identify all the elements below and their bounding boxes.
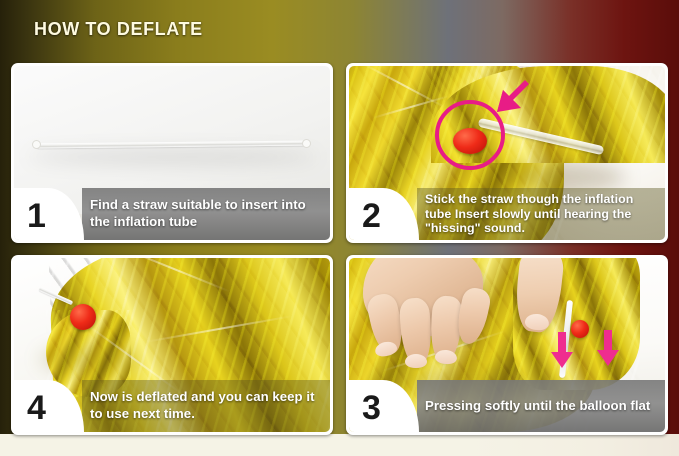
page-title: HOW TO DEFLATE bbox=[34, 19, 203, 40]
caption-bar-4: 4 Now is deflated and you can keep it to… bbox=[14, 380, 330, 432]
straw-object bbox=[36, 141, 306, 149]
step-badge-2: 2 bbox=[349, 188, 419, 240]
caption-bar-3: 3 Pressing softly until the balloon flat bbox=[349, 380, 665, 432]
step-badge-1: 1 bbox=[14, 188, 84, 240]
caption-text-2: Stick the straw though the inflation tub… bbox=[425, 192, 665, 237]
step-panel-4: 4 Now is deflated and you can keep it to… bbox=[11, 255, 333, 435]
step-badge-4: 4 bbox=[14, 380, 84, 432]
pink-arrow-down-icon bbox=[597, 330, 619, 366]
caption-text-3: Pressing softly until the balloon flat bbox=[425, 398, 656, 415]
step-number-4: 4 bbox=[14, 387, 46, 425]
caption-text-4: Now is deflated and you can keep it to u… bbox=[90, 389, 330, 423]
panel-grid: 1 Find a straw suitable to insert into t… bbox=[11, 63, 668, 435]
how-to-deflate-infographic: HOW TO DEFLATE 1 Find a straw suitable t… bbox=[0, 0, 679, 456]
pink-arrow-down-left-icon bbox=[485, 78, 533, 126]
bottom-band-right bbox=[469, 434, 679, 456]
caption-text-1: Find a straw suitable to insert into the… bbox=[90, 197, 330, 231]
step-panel-3: 3 Pressing softly until the balloon flat bbox=[346, 255, 668, 435]
fingernail bbox=[405, 354, 427, 368]
red-valve bbox=[571, 320, 589, 338]
step-panel-2: 2 Stick the straw though the inflation t… bbox=[346, 63, 668, 243]
balloon-shadow bbox=[40, 346, 140, 372]
step-badge-3: 3 bbox=[349, 380, 419, 432]
table-shadow bbox=[28, 150, 318, 164]
step-number-2: 2 bbox=[349, 195, 381, 233]
step-number-3: 3 bbox=[349, 387, 381, 425]
caption-bar-2: 2 Stick the straw though the inflation t… bbox=[349, 188, 665, 240]
pink-arrow-down-icon bbox=[551, 332, 573, 368]
step-number-1: 1 bbox=[14, 195, 46, 233]
straw-end-right bbox=[302, 139, 311, 148]
header-banner: HOW TO DEFLATE bbox=[0, 0, 679, 58]
step-panel-1: 1 Find a straw suitable to insert into t… bbox=[11, 63, 333, 243]
straw-end-left bbox=[32, 140, 41, 149]
red-valve bbox=[70, 304, 96, 330]
caption-bar-1: 1 Find a straw suitable to insert into t… bbox=[14, 188, 330, 240]
